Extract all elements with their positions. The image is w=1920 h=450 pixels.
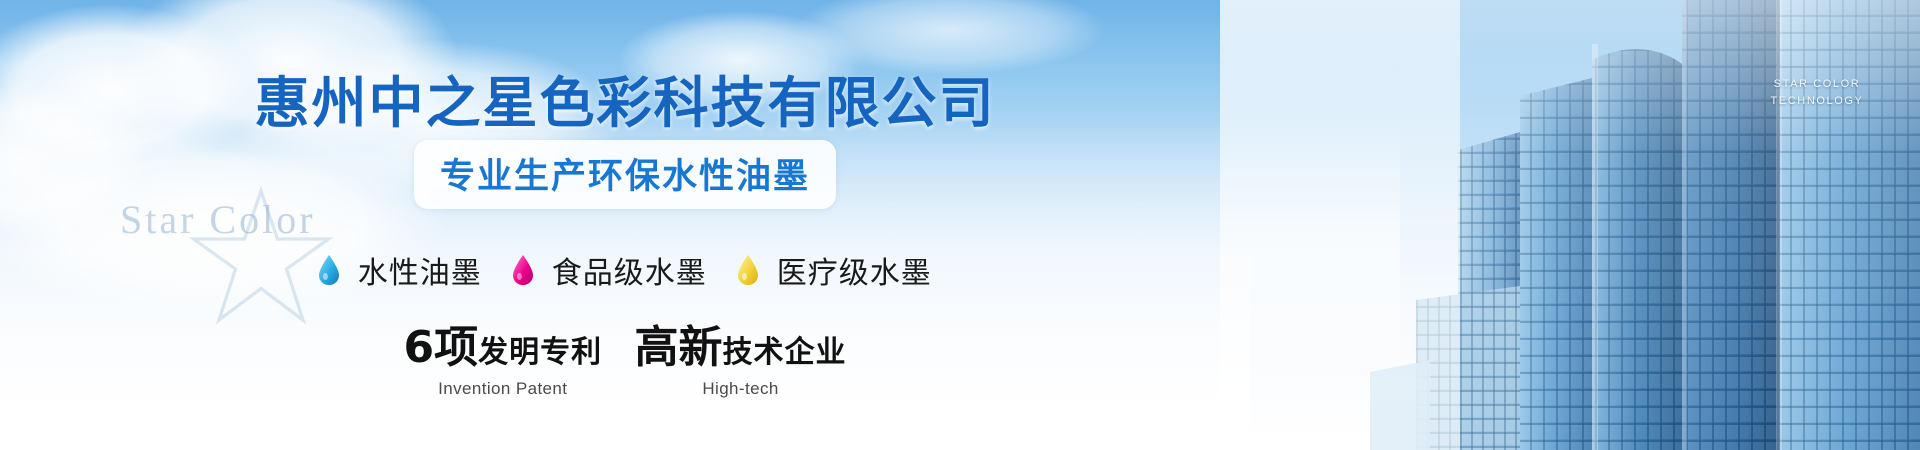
credential-big-hightech: 高新: [635, 322, 723, 373]
slogan-pill: 专业生产环保水性油墨: [414, 140, 836, 209]
skyscrapers-svg: [1220, 0, 1920, 450]
slogan-pill-wrapper: 专业生产环保水性油墨: [0, 140, 1250, 209]
credential-list: 6项发明专利 Invention Patent 高新技术企业 High-tech: [0, 326, 1250, 399]
banner-content: 惠州中之星色彩科技有限公司 专业生产环保水性油墨 水性油墨: [0, 0, 1250, 450]
water-drop-icon: [737, 255, 759, 285]
corner-logo-line1: STAR COLOR: [1769, 76, 1865, 93]
ink-product-label-3: 医疗级水墨: [777, 248, 932, 292]
company-title: 惠州中之星色彩科技有限公司: [0, 58, 1250, 138]
credential-en-patent: Invention Patent: [403, 379, 602, 399]
credential-en-hightech: High-tech: [635, 379, 847, 399]
credential-big-patent: 6项: [403, 322, 478, 373]
corner-logo-line2: TECHNOLOGY: [1769, 93, 1865, 110]
water-drop-icon: [512, 255, 534, 285]
promotional-banner: Star Color: [0, 0, 1920, 450]
water-drop-icon: [318, 255, 340, 285]
ink-product-item-2: 食品级水墨: [512, 248, 707, 292]
corner-brand-logo: STAR COLOR TECHNOLOGY: [1769, 76, 1865, 110]
ink-product-item-3: 医疗级水墨: [737, 248, 932, 292]
credential-item-patent: 6项发明专利 Invention Patent: [403, 326, 602, 399]
credential-small-patent: 发明专利: [478, 335, 602, 370]
credential-small-hightech: 技术企业: [723, 335, 847, 370]
ink-product-label-2: 食品级水墨: [552, 248, 707, 292]
ink-product-label-1: 水性油墨: [358, 248, 482, 292]
credential-item-hightech: 高新技术企业 High-tech: [635, 326, 847, 399]
city-skyline-illustration: [1220, 0, 1920, 450]
credential-main-hightech: 高新技术企业: [635, 326, 847, 370]
credential-main-patent: 6项发明专利: [403, 326, 602, 370]
ink-product-list: 水性油墨 食品级水墨: [0, 248, 1250, 292]
ink-product-item-1: 水性油墨: [318, 248, 482, 292]
